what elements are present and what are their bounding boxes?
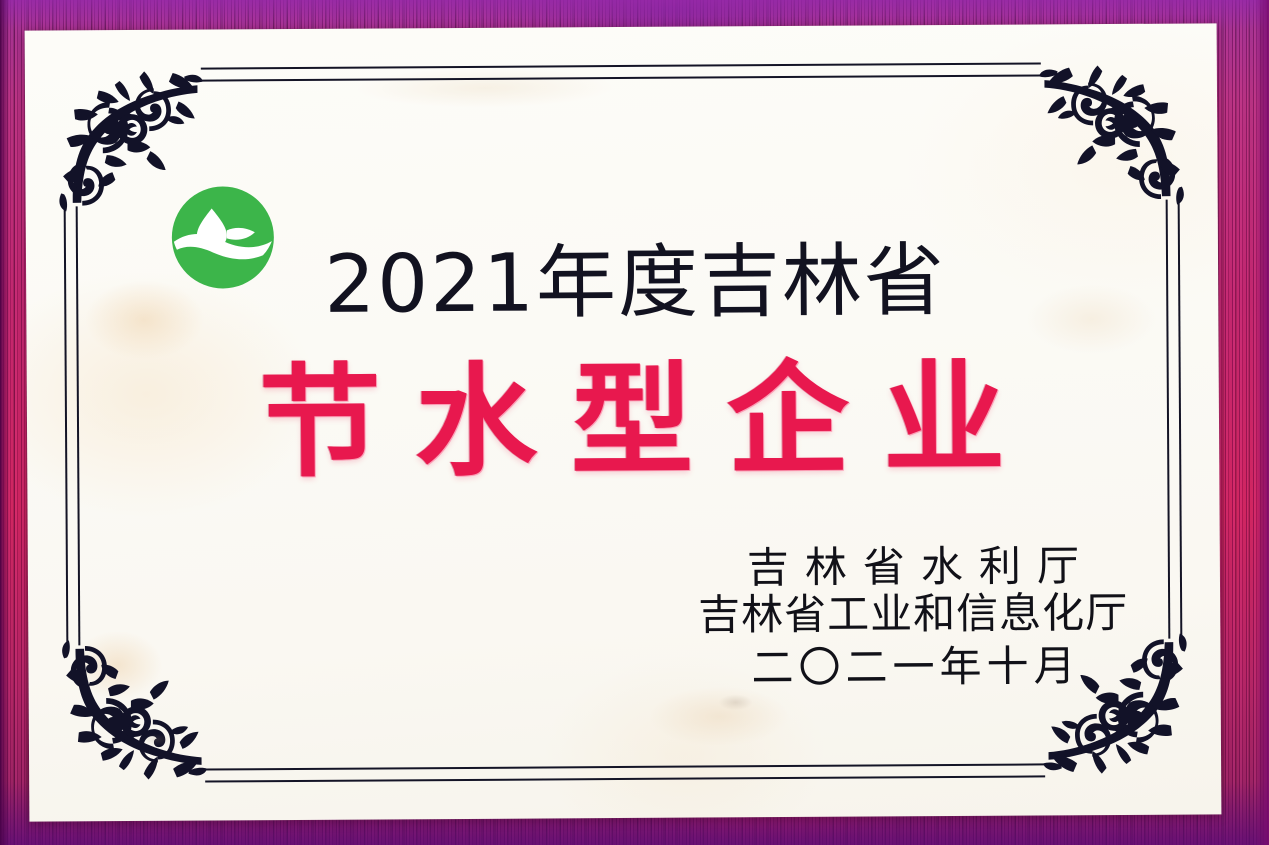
certificate-card: 2021年度吉林省 节水型企业 吉林省水利厅 吉林省工业和信息化厅 二〇二一年十… — [25, 23, 1222, 821]
border-rule-top-outer — [201, 62, 1041, 69]
issuer-line-1: 吉林省水利厅 — [698, 542, 1128, 592]
frame-edge-left — [0, 0, 10, 845]
corner-ornament-bottom-left — [58, 639, 211, 792]
paper-blotch — [355, 67, 615, 109]
border-rule-bottom-inner — [205, 764, 1045, 771]
issuer-line-2: 吉林省工业和信息化厅 — [698, 589, 1128, 639]
border-rule-top-inner — [201, 74, 1041, 81]
border-rule-bottom-outer — [205, 775, 1045, 782]
paper-blotch — [649, 686, 789, 747]
issuer-signature-block: 吉林省水利厅 吉林省工业和信息化厅 二〇二一年十月 — [698, 542, 1129, 692]
certificate-headline: 2021年度吉林省 — [26, 239, 1218, 326]
frame-edge-right — [1255, 0, 1269, 845]
corner-ornament-top-right — [1035, 54, 1188, 207]
award-plaque-photo: 2021年度吉林省 节水型企业 吉林省水利厅 吉林省工业和信息化厅 二〇二一年十… — [0, 0, 1269, 845]
award-title: 节水型企业 — [27, 355, 1220, 484]
paper-smudge — [719, 694, 753, 710]
issue-date: 二〇二一年十月 — [698, 642, 1128, 692]
